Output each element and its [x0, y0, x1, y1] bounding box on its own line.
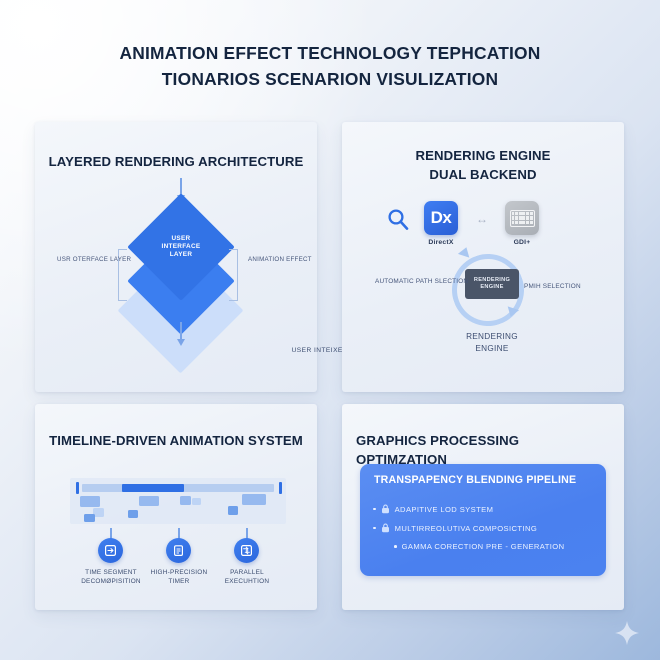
lock-icon	[381, 504, 390, 514]
engine-box-line2: ENGINE	[480, 284, 503, 291]
panel1-heading: LAYERED RENDERING ARCHITECTURE	[35, 152, 317, 171]
step1-line2: DECOMØPISITION	[81, 578, 141, 585]
timeline-block	[139, 496, 159, 506]
pipeline-item-2[interactable]: MULTIRREOLUTIVA COMPOSICTING	[373, 523, 537, 533]
pipeline-title: TRANSPAPENCY BLENDING PIPELINE	[374, 474, 576, 486]
timeline-block	[242, 494, 266, 505]
diamond-ui-label: USER INTERFACE LAYER	[143, 209, 219, 285]
bidirectional-arrow-icon: ↔	[468, 214, 496, 224]
page-title-line1: ANIMATION EFFECT TECHNOLOGY TEPHCATION	[119, 43, 540, 63]
panel2-heading-line2: DUAL BACKEND	[429, 167, 536, 182]
page-title-line2: TIONARIOS SCENARION VISULIZATION	[0, 66, 660, 92]
timeline-block	[228, 506, 238, 515]
gdi-caption: GDI+	[496, 239, 548, 246]
panel2-heading-line1: RENDERING ENGINE	[416, 148, 551, 163]
arrow-down-icon-bottom	[180, 322, 182, 340]
parallel-execution-icon[interactable]	[234, 538, 259, 563]
panel1-right-label: ANIMATION EFFECT	[248, 256, 306, 264]
timeline-block	[180, 496, 191, 505]
gdi-tile[interactable]	[505, 201, 539, 235]
step2-line2: TIMER	[168, 578, 189, 585]
diamond-top-line1: USER	[172, 235, 191, 243]
panel2-bottom-line2: ENGINE	[475, 344, 508, 353]
bullet-icon	[373, 527, 376, 530]
infographic-canvas: ANIMATION EFFECT TECHNOLOGY TEPHCATION T…	[0, 0, 660, 660]
rendering-engine-box[interactable]: RENDERING ENGINE	[465, 269, 519, 299]
pipeline-item-3-text: GAMMA CORECTION PRE - GENERATION	[402, 542, 565, 551]
step3-line2: EXECUHTION	[225, 578, 269, 585]
directx-tile[interactable]: Dx	[424, 201, 458, 235]
cycle-label-right: PMIH SELECTION	[524, 283, 602, 292]
timeline-block	[84, 514, 95, 522]
panel3-heading: TIMELINE-DRIVEN ANIMATION SYSTEM	[35, 431, 317, 450]
magnifier-icon[interactable]	[387, 208, 409, 230]
cycle-label-left: AUTOMATIC PATH SLECTION	[375, 278, 447, 287]
pipeline-item-1-text: ADAPITIVE LOD SYSTEM	[395, 505, 494, 514]
engine-box-line1: RENDERING	[474, 277, 510, 284]
diamond-top-line2: INTERFACE	[162, 243, 201, 251]
timeline-block	[192, 498, 201, 505]
step3-line1: PARALLEL	[230, 569, 264, 576]
pipeline-item-2-text: MULTIRREOLUTIVA COMPOSICTING	[395, 524, 538, 533]
directx-glyph: Dx	[431, 208, 452, 228]
clipboard-timer-icon[interactable]	[166, 538, 191, 563]
step1-line1: TIME SEGMENT	[85, 569, 137, 576]
bracket-right	[229, 249, 238, 301]
keyboard-icon	[510, 210, 535, 227]
bullet-icon	[373, 508, 376, 511]
panel2-bottom-label: RENDERING ENGINE	[420, 331, 564, 354]
panel1-left-label: USR OTERFACE LAYER	[57, 256, 115, 264]
diamond-user-interface-layer[interactable]: USER INTERFACE LAYER	[127, 193, 234, 300]
bullet-icon	[394, 545, 397, 548]
timeline-start-marker	[76, 482, 79, 494]
pipeline-item-3[interactable]: GAMMA CORECTION PRE - GENERATION	[394, 542, 564, 551]
directx-caption: DirectX	[415, 239, 467, 246]
timeline-active-segment[interactable]	[122, 484, 184, 492]
diamond-top-line3: LAYER	[170, 251, 193, 259]
timeline-block	[80, 496, 100, 507]
timeline-block	[128, 510, 138, 518]
page-title: ANIMATION EFFECT TECHNOLOGY TEPHCATION T…	[0, 40, 660, 92]
pipeline-item-1[interactable]: ADAPITIVE LOD SYSTEM	[373, 504, 493, 514]
lock-icon	[381, 523, 390, 533]
step2-line1: HIGH-PRECISION	[151, 569, 208, 576]
panel2-heading: RENDERING ENGINE DUAL BACKEND	[342, 146, 624, 184]
sparkle-icon	[614, 620, 640, 646]
time-segment-icon[interactable]	[98, 538, 123, 563]
timeline-step-label-3: PARALLEL EXECUHTION	[202, 568, 292, 586]
timeline-end-marker	[279, 482, 282, 494]
panel2-bottom-line1: RENDERING	[466, 332, 518, 341]
